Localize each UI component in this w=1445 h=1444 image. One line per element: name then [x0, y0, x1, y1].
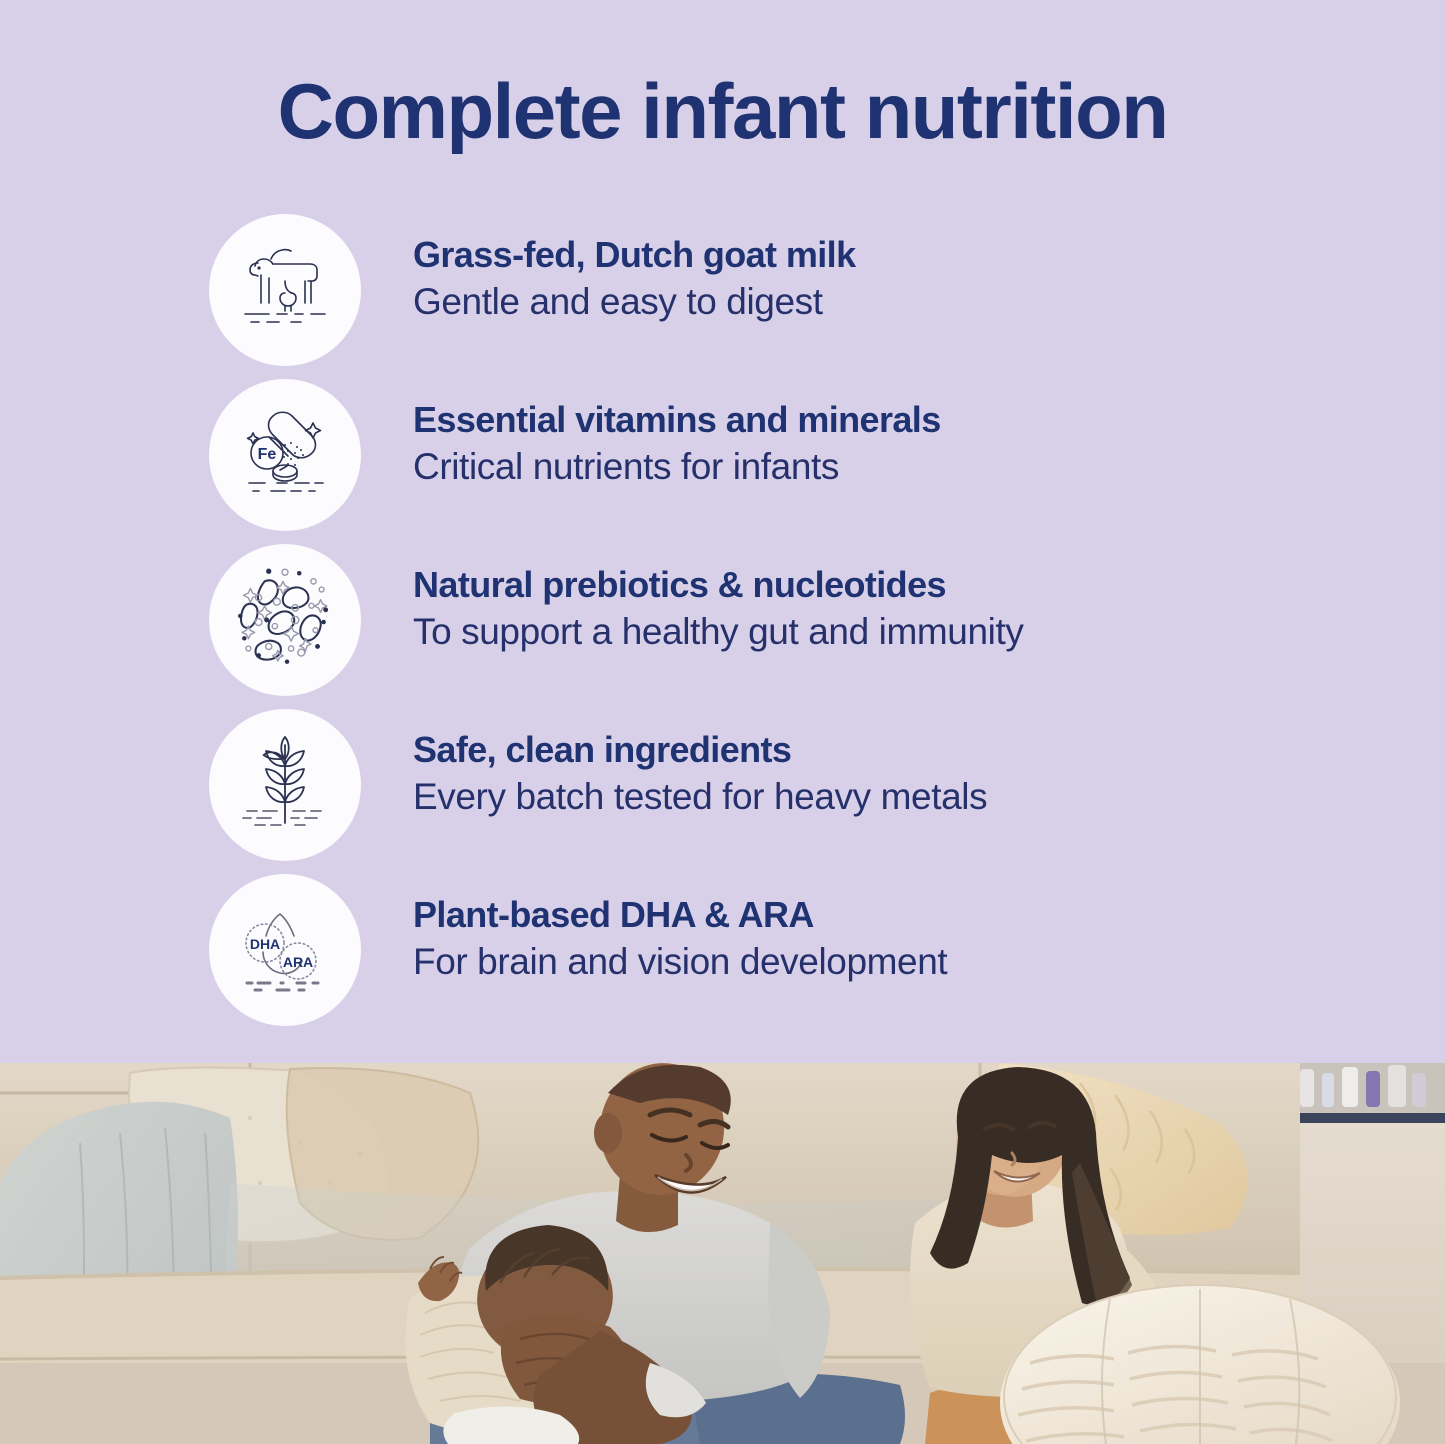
feature-text: Safe, clean ingredients Every batch test…: [413, 729, 1333, 820]
list-item: Natural prebiotics & nucleotides To supp…: [209, 544, 1359, 696]
feature-subtitle: To support a healthy gut and immunity: [413, 610, 1333, 654]
feature-title: Grass-fed, Dutch goat milk: [413, 234, 1333, 276]
feature-title: Plant-based DHA & ARA: [413, 894, 1333, 936]
feature-panel: Complete infant nutrition: [0, 0, 1445, 1063]
probiotic-bacteria-icon: [209, 544, 361, 696]
vitamin-capsule-icon: Fe: [209, 379, 361, 531]
list-item: Grass-fed, Dutch goat milk Gentle and ea…: [209, 214, 1359, 366]
list-item: Safe, clean ingredients Every batch test…: [209, 709, 1359, 861]
feature-subtitle: Gentle and easy to digest: [413, 280, 1333, 324]
feature-subtitle: For brain and vision development: [413, 940, 1333, 984]
feature-text: Plant-based DHA & ARA For brain and visi…: [413, 894, 1333, 985]
ara-label: ARA: [283, 954, 313, 970]
family-photo: [0, 1063, 1445, 1444]
feature-text: Essential vitamins and minerals Critical…: [413, 399, 1333, 490]
feature-text: Grass-fed, Dutch goat milk Gentle and ea…: [413, 234, 1333, 325]
fe-label: Fe: [258, 446, 277, 463]
feature-subtitle: Critical nutrients for infants: [413, 445, 1333, 489]
list-item: DHA ARA Plant-based DHA & ARA For brain …: [209, 874, 1359, 1026]
page-title: Complete infant nutrition: [0, 72, 1445, 150]
infographic-page: Complete infant nutrition: [0, 0, 1445, 1444]
list-item: Fe Essential vitamins and miner: [209, 379, 1359, 531]
feature-title: Essential vitamins and minerals: [413, 399, 1333, 441]
wheat-stalk-icon: [209, 709, 361, 861]
feature-text: Natural prebiotics & nucleotides To supp…: [413, 564, 1333, 655]
family-photo-illustration: [0, 1063, 1445, 1444]
dha-label: DHA: [250, 936, 280, 952]
feature-title: Natural prebiotics & nucleotides: [413, 564, 1333, 606]
feature-subtitle: Every batch tested for heavy metals: [413, 775, 1333, 819]
goat-icon: [209, 214, 361, 366]
dha-ara-icon: DHA ARA: [209, 874, 361, 1026]
feature-list: Grass-fed, Dutch goat milk Gentle and ea…: [209, 214, 1359, 1039]
feature-title: Safe, clean ingredients: [413, 729, 1333, 771]
